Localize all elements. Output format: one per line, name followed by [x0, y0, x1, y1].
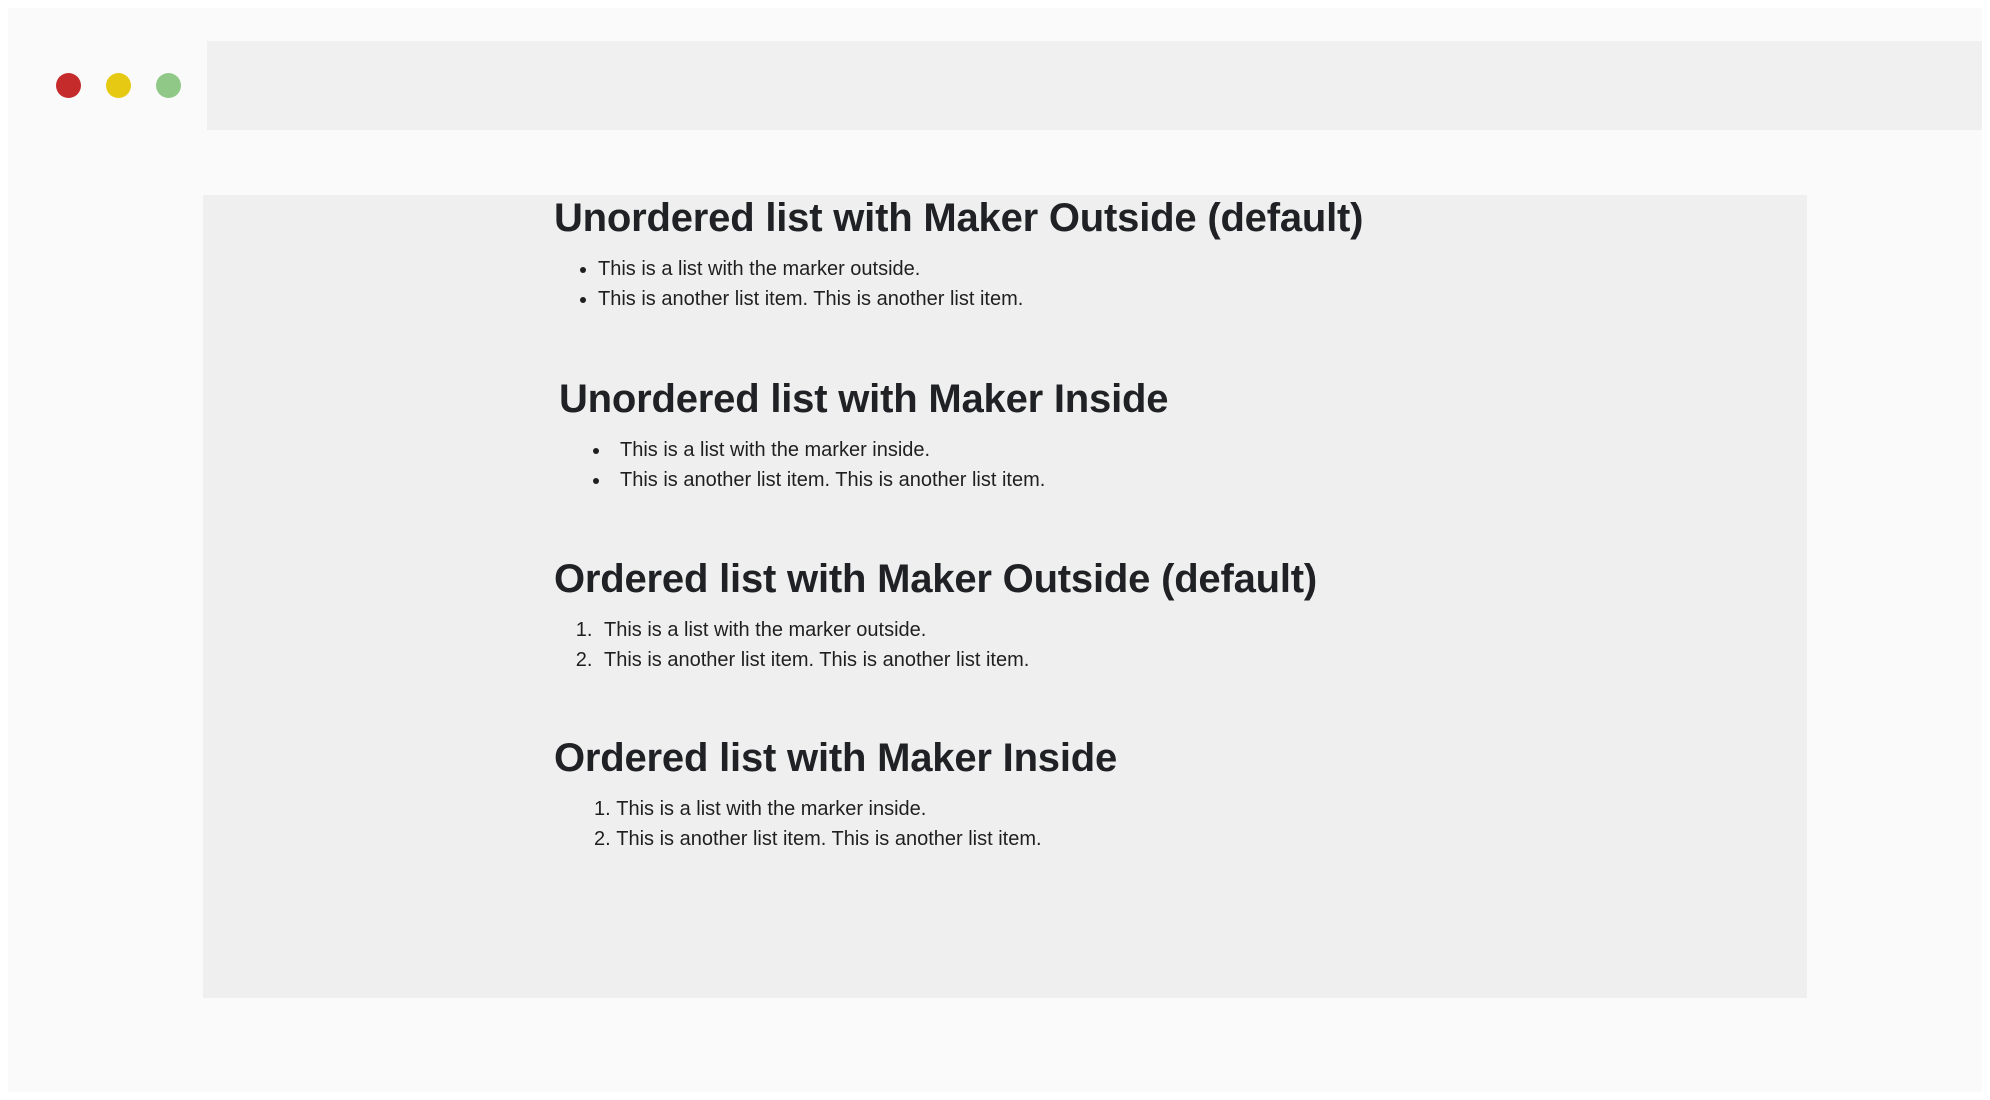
section-unordered-inside: Unordered list with Maker Inside This is… — [203, 376, 1982, 496]
section-heading: Unordered list with Maker Inside — [559, 376, 1982, 422]
page-viewport: Unordered list with Maker Outside (defau… — [8, 130, 1982, 1092]
title-bar — [8, 8, 1982, 130]
ordered-list-inside: This is a list with the marker inside. T… — [554, 794, 1982, 855]
list-item: This is a list with the marker inside. — [588, 794, 1982, 824]
list-item: This is another list item. This is anoth… — [588, 824, 1982, 854]
section-heading: Ordered list with Maker Outside (default… — [554, 556, 1982, 602]
document-body: Unordered list with Maker Outside (defau… — [203, 195, 1807, 998]
browser-window: Unordered list with Maker Outside (defau… — [8, 8, 1982, 1092]
section-ordered-outside: Ordered list with Maker Outside (default… — [203, 556, 1982, 676]
list-item: This is another list item. This is anoth… — [593, 465, 1982, 495]
zoom-window-button[interactable] — [156, 73, 181, 98]
list-item: This is another list item. This is anoth… — [598, 645, 1982, 675]
window-controls — [56, 73, 181, 98]
section-ordered-inside: Ordered list with Maker Inside This is a… — [203, 735, 1982, 855]
minimize-window-button[interactable] — [106, 73, 131, 98]
list-item: This is another list item. This is anoth… — [598, 284, 1982, 314]
section-heading: Unordered list with Maker Outside (defau… — [554, 195, 1982, 241]
list-item: This is a list with the marker outside. — [598, 254, 1982, 284]
section-heading: Ordered list with Maker Inside — [554, 735, 1982, 781]
list-item: This is a list with the marker inside. — [593, 435, 1982, 465]
close-window-button[interactable] — [56, 73, 81, 98]
list-item: This is a list with the marker outside. — [598, 615, 1982, 645]
tab-strip-label — [207, 41, 211, 131]
ordered-list-outside: This is a list with the marker outside. … — [554, 615, 1982, 676]
content-panel: Unordered list with Maker Outside (defau… — [203, 195, 1807, 998]
unordered-list-inside: This is a list with the marker inside. T… — [559, 435, 1982, 496]
tab-strip[interactable] — [207, 41, 1982, 132]
section-unordered-outside: Unordered list with Maker Outside (defau… — [203, 195, 1982, 315]
unordered-list-outside: This is a list with the marker outside. … — [554, 254, 1982, 315]
